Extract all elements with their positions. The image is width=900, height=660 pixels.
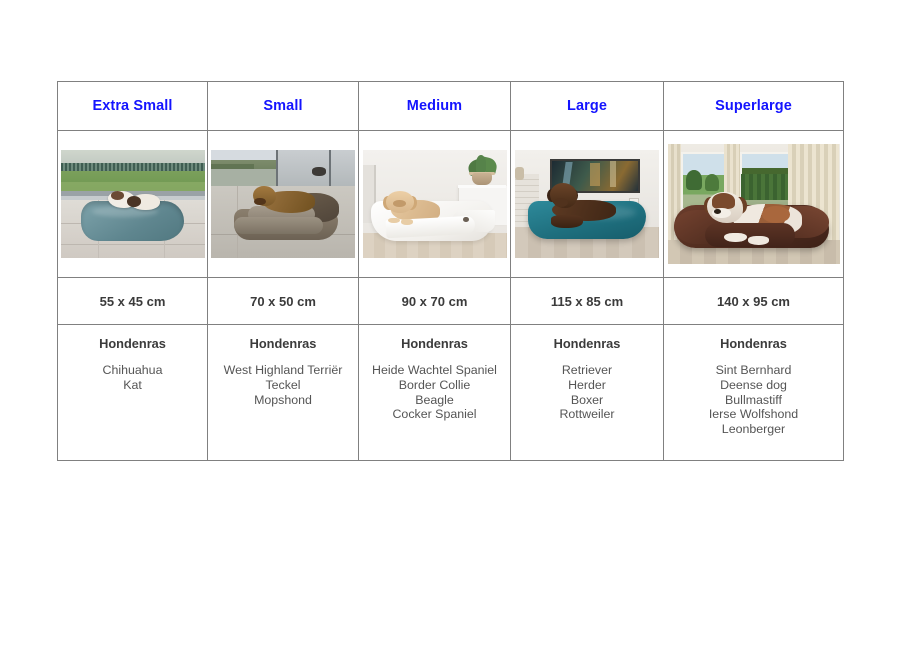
table-header-row: Extra Small Small Medium Large Superlarg… [58,82,844,131]
breed-cell-extra-small: Hondenras Chihuahua Kat [58,325,208,461]
table-breed-row: Hondenras Chihuahua Kat Hondenras West H… [58,325,844,461]
dimension-cell-large: 115 x 85 cm [511,278,664,325]
size-header-label: Medium [359,99,510,114]
header-cell-small: Small [208,82,359,131]
breed-section-title: Hondenras [208,336,358,351]
breed-list: Sint Bernhard Deense dog Bullmastiff Ier… [664,363,843,436]
product-photo-large [515,150,659,258]
size-header-label: Superlarge [664,99,843,114]
breed-item: Leonberger [664,422,843,437]
dimension-label: 55 x 45 cm [58,295,207,308]
breed-block: Hondenras Sint Bernhard Deense dog Bullm… [664,325,843,436]
breed-item: Bullmastiff [664,393,843,408]
breed-cell-small: Hondenras West Highland Terriër Teckel M… [208,325,359,461]
dimension-label: 90 x 70 cm [359,295,510,308]
breed-item: Ierse Wolfshond [664,407,843,422]
breed-section-title: Hondenras [359,336,510,351]
breed-list: Heide Wachtel Spaniel Border Collie Beag… [359,363,510,421]
photo-cell-extra-small [58,131,208,278]
breed-item: Border Collie [359,378,510,393]
breed-item: Kat [58,378,207,393]
breed-list: West Highland Terriër Teckel Mopshond [208,363,358,407]
breed-block: Hondenras Chihuahua Kat [58,325,207,393]
photo-wrapper [208,131,358,277]
dimension-cell-medium: 90 x 70 cm [359,278,511,325]
dimension-label: 140 x 95 cm [664,295,843,308]
dimension-cell-extra-small: 55 x 45 cm [58,278,208,325]
header-cell-extra-small: Extra Small [58,82,208,131]
dog-bed-size-table: Extra Small Small Medium Large Superlarg… [57,81,844,461]
product-photo-medium [363,150,507,258]
breed-section-title: Hondenras [511,336,663,351]
breed-block: Hondenras West Highland Terriër Teckel M… [208,325,358,407]
breed-item: Heide Wachtel Spaniel [359,363,510,378]
header-cell-large: Large [511,82,664,131]
photo-wrapper [511,131,663,277]
breed-section-title: Hondenras [58,336,207,351]
breed-item: Teckel [208,378,358,393]
page-canvas: Extra Small Small Medium Large Superlarg… [0,0,900,660]
size-header-label: Large [511,99,663,114]
photo-cell-large [511,131,664,278]
dimension-label: 70 x 50 cm [208,295,358,308]
breed-cell-medium: Hondenras Heide Wachtel Spaniel Border C… [359,325,511,461]
breed-item: Rottweiler [511,407,663,422]
dimension-cell-small: 70 x 50 cm [208,278,359,325]
table-dimension-row: 55 x 45 cm 70 x 50 cm 90 x 70 cm 115 x 8… [58,278,844,325]
dimension-label: 115 x 85 cm [511,295,663,308]
size-header-label: Small [208,99,358,114]
breed-item: Mopshond [208,393,358,408]
breed-item: Herder [511,378,663,393]
breed-item: Retriever [511,363,663,378]
breed-cell-large: Hondenras Retriever Herder Boxer Rottwei… [511,325,664,461]
breed-block: Hondenras Heide Wachtel Spaniel Border C… [359,325,510,422]
table-photo-row [58,131,844,278]
breed-item: Cocker Spaniel [359,407,510,422]
product-photo-superlarge [668,144,840,264]
photo-wrapper [664,131,843,277]
header-cell-medium: Medium [359,82,511,131]
photo-cell-medium [359,131,511,278]
breed-list: Retriever Herder Boxer Rottweiler [511,363,663,421]
breed-list: Chihuahua Kat [58,363,207,392]
breed-item: Sint Bernhard [664,363,843,378]
breed-item: Boxer [511,393,663,408]
product-photo-extra-small [61,150,205,258]
photo-wrapper [58,131,207,277]
breed-item: Deense dog [664,378,843,393]
header-cell-superlarge: Superlarge [664,82,844,131]
breed-cell-superlarge: Hondenras Sint Bernhard Deense dog Bullm… [664,325,844,461]
breed-item: West Highland Terriër [208,363,358,378]
size-header-label: Extra Small [58,99,207,114]
product-photo-small [211,150,355,258]
breed-item: Chihuahua [58,363,207,378]
breed-section-title: Hondenras [664,336,843,351]
photo-cell-superlarge [664,131,844,278]
photo-cell-small [208,131,359,278]
photo-wrapper [359,131,510,277]
breed-item: Beagle [359,393,510,408]
dimension-cell-superlarge: 140 x 95 cm [664,278,844,325]
breed-block: Hondenras Retriever Herder Boxer Rottwei… [511,325,663,422]
